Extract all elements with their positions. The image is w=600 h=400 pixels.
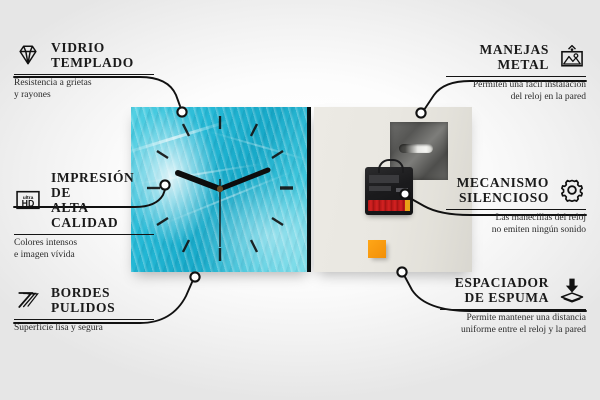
feature-rule bbox=[14, 234, 154, 235]
feature-mecanismo-silencioso: MECANISMO SILENCIOSO Las manecillas del … bbox=[446, 175, 586, 236]
feature-desc: Superficie lisa y segura bbox=[14, 323, 154, 335]
feature-espaciador-espuma: ESPACIADOR DE ESPUMA Permite mantener un… bbox=[440, 275, 586, 336]
diamond-icon bbox=[14, 41, 42, 69]
wall-frame-hook-icon bbox=[558, 43, 586, 71]
clock-front-panel bbox=[131, 107, 311, 272]
feature-header: MECANISMO SILENCIOSO bbox=[446, 175, 586, 205]
feature-header: MANEJAS METAL bbox=[446, 42, 586, 72]
mechanism-detail bbox=[369, 175, 399, 183]
feature-desc: Permiten una fácil instalación del reloj… bbox=[446, 80, 586, 103]
hanger-slot bbox=[399, 144, 433, 153]
ultra-hd-icon: ultra HD bbox=[14, 186, 42, 214]
feature-header: ESPACIADOR DE ESPUMA bbox=[440, 275, 586, 305]
gear-icon bbox=[558, 176, 586, 204]
feature-header: BORDES PULIDOS bbox=[14, 285, 154, 315]
feature-title: IMPRESIÓN DE ALTA CALIDAD bbox=[51, 170, 154, 230]
clock-mechanism bbox=[365, 167, 413, 215]
feature-bordes-pulidos: BORDES PULIDOS Superficie lisa y segura bbox=[14, 285, 154, 335]
feature-title: ESPACIADOR DE ESPUMA bbox=[455, 275, 549, 305]
feature-rule bbox=[446, 209, 586, 210]
feature-vidrio-templado: VIDRIO TEMPLADO Resistencia a grietas y … bbox=[14, 40, 154, 101]
mechanism-loop bbox=[378, 159, 404, 173]
feature-header: VIDRIO TEMPLADO bbox=[14, 40, 154, 70]
feature-impresion-alta-calidad: ultra HD IMPRESIÓN DE ALTA CALIDAD Color… bbox=[14, 170, 154, 261]
feature-header: ultra HD IMPRESIÓN DE ALTA CALIDAD bbox=[14, 170, 154, 230]
feature-desc: Colores intensos e imagen vívida bbox=[14, 238, 154, 261]
feature-desc: Las manecillas del reloj no emiten ningú… bbox=[446, 213, 586, 236]
feature-desc: Resistencia a grietas y rayones bbox=[14, 78, 154, 101]
battery-terminal bbox=[405, 200, 410, 211]
feature-title: MECANISMO SILENCIOSO bbox=[457, 175, 549, 205]
feather-print-artwork bbox=[131, 107, 311, 272]
foam-spacer bbox=[368, 240, 386, 258]
feature-title: BORDES PULIDOS bbox=[51, 285, 115, 315]
feature-manejas-metal: MANEJAS METAL Permiten una fácil instala… bbox=[446, 42, 586, 103]
arrow-down-layers-icon bbox=[558, 276, 586, 304]
panel-dark-edge bbox=[307, 107, 311, 272]
mechanism-detail bbox=[369, 186, 391, 191]
feature-desc: Permite mantener una distancia uniforme … bbox=[440, 313, 586, 336]
feature-title: MANEJAS METAL bbox=[480, 42, 549, 72]
battery-compartment bbox=[368, 200, 410, 211]
connector-dot bbox=[190, 272, 199, 281]
ultra-hd-icon-large: HD bbox=[22, 198, 35, 208]
feature-rule bbox=[14, 74, 154, 75]
feature-title: VIDRIO TEMPLADO bbox=[51, 40, 134, 70]
feature-rule bbox=[440, 309, 586, 310]
feature-rule bbox=[446, 76, 586, 77]
mechanism-detail bbox=[396, 188, 408, 192]
polished-edges-icon bbox=[14, 286, 42, 314]
infographic-root: VIDRIO TEMPLADO Resistencia a grietas y … bbox=[0, 0, 600, 400]
feature-rule bbox=[14, 319, 154, 320]
